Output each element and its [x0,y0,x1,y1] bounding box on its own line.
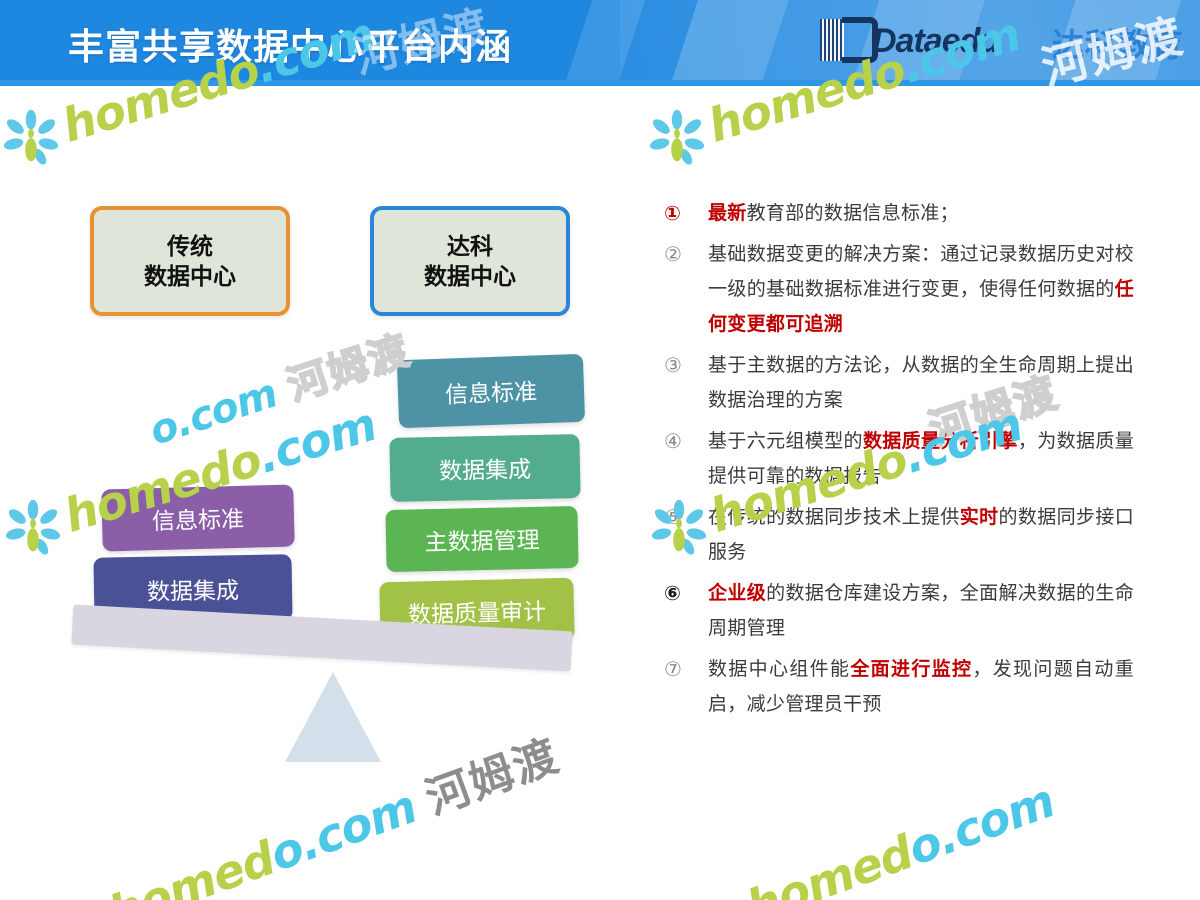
top-box-traditional-line1: 传统 [167,231,213,261]
list-item: ①最新教育部的数据信息标准； [664,196,1134,231]
list-item-text: 最新教育部的数据信息标准； [708,196,1134,231]
list-item-text: 基础数据变更的解决方案：通过记录数据历史对校一级的基础数据标准进行变更，使得任何… [708,237,1134,342]
list-item-text: 数据中心组件能全面进行监控，发现问题自动重启，减少管理员干预 [708,652,1134,722]
list-item-number: ② [664,237,708,342]
list-item-text: 基于主数据的方法论，从数据的全生命周期上提出数据治理的方案 [708,348,1134,418]
top-box-traditional: 传统 数据中心 [90,206,290,316]
dataedu-bars-logo-icon [820,19,844,61]
list-item: ⑥企业级的数据仓库建设方案，全面解决数据的生命周期管理 [664,576,1134,646]
list-item: ⑤在传统的数据同步技术上提供实时的数据同步接口服务 [664,500,1134,570]
slide-root: 丰富共享数据中心平台内涵 Dataedu 达科教育 dataedu 传统 数据中… [0,0,1200,900]
list-item: ⑦数据中心组件能全面进行监控，发现问题自动重启，减少管理员干预 [664,652,1134,722]
list-item-number: ⑤ [664,500,708,570]
list-item-text: 在传统的数据同步技术上提供实时的数据同步接口服务 [708,500,1134,570]
watermark-bottom-right: homedo.com 河姆渡 [740,733,1194,900]
homedo-flower-icon [4,498,62,556]
feature-list: ①最新教育部的数据信息标准；②基础数据变更的解决方案：通过记录数据历史对校一级的… [664,196,1134,728]
homedo-flower-icon [648,108,706,166]
list-item-number: ⑦ [664,652,708,722]
list-item-number: ④ [664,424,708,494]
top-box-dataedu: 达科 数据中心 [370,206,570,316]
watermark-site-cyan: .com [251,397,382,484]
seesaw-fulcrum-triangle [285,672,381,762]
homedo-flower-icon [2,108,60,166]
logo-wordmark: Dataedu [872,22,999,61]
header-underline [0,80,1200,86]
watermark-mid-left-cn: 河姆渡 [282,328,415,409]
stack-block-left-0: 信息标准 [101,484,295,551]
logo-subtitle: dataedu [1092,58,1149,72]
list-item-text: 基于六元组模型的数据质量分析引擎，为数据质量提供可靠的数据报告 [708,424,1134,494]
watermark-bottom-right-domain: o.com [901,773,1061,875]
list-item: ④基于六元组模型的数据质量分析引擎，为数据质量提供可靠的数据报告 [664,424,1134,494]
watermark-mid-left: o.com 河姆渡 [141,318,417,457]
brand-logo: Dataedu 达科教育 dataedu [820,14,1190,76]
list-item-number: ① [664,196,708,231]
stack-block-right-1: 数据集成 [389,434,580,502]
list-item: ③基于主数据的方法论，从数据的全生命周期上提出数据治理的方案 [664,348,1134,418]
watermark-bottom-right-site: homed [740,825,920,900]
watermark-mid-left-domain: o.com [144,371,282,455]
top-box-dataedu-line1: 达科 [447,231,493,261]
list-item: ②基础数据变更的解决方案：通过记录数据历史对校一级的基础数据标准进行变更，使得任… [664,237,1134,342]
stack-block-right-0: 信息标准 [397,354,585,428]
top-box-traditional-line2: 数据中心 [144,261,236,291]
slide-header: 丰富共享数据中心平台内涵 Dataedu 达科教育 dataedu [0,0,1200,80]
watermark-top-left: homedo.com [2,96,422,176]
watermark-top-right: homedo.com [648,96,1068,176]
watermark-bottom-left-domain: o.com [263,779,423,881]
watermark-bottom-right-cn: 河姆渡 [772,895,918,900]
stack-block-right-2: 主数据管理 [385,506,578,572]
list-item-number: ③ [664,348,708,418]
list-item-text: 企业级的数据仓库建设方案，全面解决数据的生命周期管理 [708,576,1134,646]
watermark-bottom-left-site: homed [102,831,282,900]
page-title: 丰富共享数据中心平台内涵 [68,18,512,70]
list-item-number: ⑥ [664,576,708,646]
watermark-bottom-left-cn: 河姆渡 [420,731,566,824]
top-box-dataedu-line2: 数据中心 [424,261,516,291]
